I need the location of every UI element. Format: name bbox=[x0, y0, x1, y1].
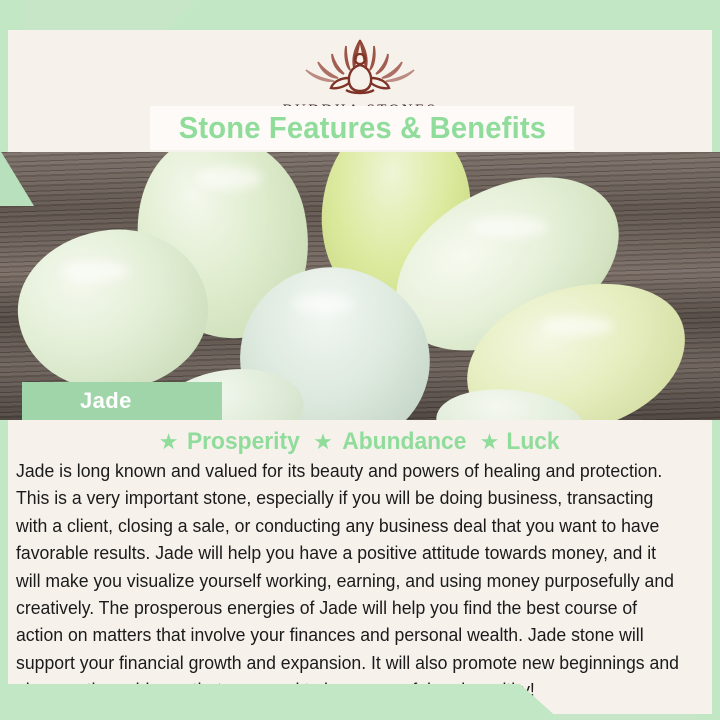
benefit-item-luck: ★ Luck bbox=[480, 428, 562, 456]
page-title: Stone Features & Benefits bbox=[178, 110, 545, 146]
infographic-page: BUDDHA STONES Stone Features & Benefits … bbox=[0, 0, 720, 720]
hero-stone-photo bbox=[0, 152, 720, 420]
star-icon: ★ bbox=[313, 431, 333, 453]
benefit-label: Prosperity bbox=[187, 428, 300, 456]
star-icon: ★ bbox=[159, 431, 179, 453]
stone-highlight bbox=[292, 294, 354, 314]
description-text: Jade is long known and valued for its be… bbox=[16, 458, 685, 705]
benefit-item-abundance: ★ Abundance bbox=[313, 428, 469, 456]
star-icon: ★ bbox=[480, 431, 500, 453]
benefit-item-prosperity: ★ Prosperity bbox=[159, 428, 303, 456]
title-strip: Stone Features & Benefits bbox=[150, 106, 574, 150]
benefit-label: Abundance bbox=[342, 428, 466, 456]
stone-name-label: Jade bbox=[80, 388, 132, 414]
lotus-meditation-icon bbox=[302, 36, 418, 98]
stone-highlight bbox=[470, 216, 548, 238]
stone-highlight bbox=[540, 316, 614, 336]
stone-highlight bbox=[60, 260, 130, 282]
benefit-label: Luck bbox=[507, 428, 560, 456]
bottom-green-banner bbox=[0, 684, 560, 720]
stone-highlight bbox=[196, 166, 262, 190]
benefits-row: ★ Prosperity ★ Abundance ★ Luck bbox=[0, 428, 720, 456]
stone-name-bar: Jade bbox=[22, 382, 222, 420]
